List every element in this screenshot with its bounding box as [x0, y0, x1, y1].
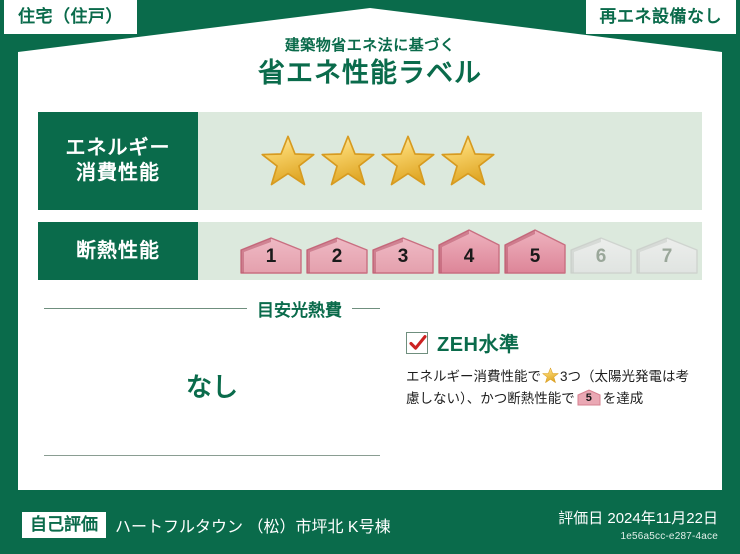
utility-cost-heading-text: 目安光熱費 — [257, 296, 342, 321]
insulation-level-6: 6 — [570, 237, 632, 275]
insulation-level-5: 5 — [504, 229, 566, 275]
lower-section: 目安光熱費 なし ZEH水準 エネルギー消費性能で3つ（太陽光発電は考慮しな — [38, 292, 702, 472]
insulation-level-2: 2 — [306, 237, 368, 275]
star-icon — [260, 133, 316, 189]
insulation-level-7: 7 — [636, 237, 698, 275]
insulation-label-text: 断熱性能 — [76, 239, 160, 264]
energy-label-line1: エネルギー — [66, 136, 171, 161]
badge-building-type: 住宅（住戸） — [4, 0, 137, 34]
footer-right: 評価日 2024年11月22日 1e56a5cc-e287-4ace — [558, 510, 718, 542]
self-evaluation-badge: 自己評価 — [22, 512, 106, 538]
title-block: 建築物省エネ法に基づく 省エネ性能ラベル — [0, 38, 740, 88]
inline-house-number: 5 — [577, 389, 601, 406]
zeh-desc-part1: エネルギー消費性能で — [406, 369, 541, 384]
energy-performance-row: エネルギー 消費性能 — [38, 112, 702, 210]
zeh-description: エネルギー消費性能で3つ（太陽光発電は考慮しない）、かつ断熱性能で5を達成 — [406, 366, 702, 410]
utility-cost-heading: 目安光熱費 — [38, 296, 386, 321]
insulation-level-scale: 1234567 — [240, 227, 698, 275]
star-rating — [260, 133, 496, 189]
zeh-desc-stars: 3つ（太陽光発電 — [560, 369, 662, 384]
label-card: エネルギー 消費性能 断熱性能 1234567 目安光熱費 — [18, 96, 722, 490]
zeh-section: ZEH水準 エネルギー消費性能で3つ（太陽光発電は考慮しない）、かつ断熱性能で5… — [386, 292, 702, 472]
energy-label-line2: 消費性能 — [76, 161, 160, 186]
insulation-level-4: 4 — [438, 229, 500, 275]
star-icon — [440, 133, 496, 189]
inline-house-badge: 5 — [577, 389, 601, 406]
zeh-checkbox[interactable] — [406, 332, 428, 354]
footer: 自己評価 ハートフルタウン （松）市坪北 K号棟 評価日 2024年11月22日… — [0, 490, 740, 554]
insulation-level-1: 1 — [240, 237, 302, 275]
energy-performance-body — [198, 112, 702, 210]
heading-rule-left — [44, 308, 247, 309]
utility-cost-section: 目安光熱費 なし — [38, 292, 386, 472]
document-id: 1e56a5cc-e287-4ace — [558, 531, 718, 542]
zeh-title: ZEH水準 — [437, 328, 520, 357]
badge-renewable-energy: 再エネ設備なし — [586, 0, 737, 34]
building-name: ハートフルタウン （松）市坪北 K号棟 — [115, 513, 391, 537]
star-icon — [320, 133, 376, 189]
insulation-performance-body: 1234567 — [198, 222, 702, 280]
star-icon — [380, 133, 436, 189]
insulation-performance-label: 断熱性能 — [38, 222, 198, 280]
inline-star-icon — [542, 367, 559, 384]
insulation-performance-row: 断熱性能 1234567 — [38, 222, 702, 280]
energy-performance-label: エネルギー 消費性能 — [38, 112, 198, 210]
energy-label-root: 住宅（住戸） 再エネ設備なし 建築物省エネ法に基づく 省エネ性能ラベル エネルギ… — [0, 0, 740, 554]
utility-cost-bottom-rule — [44, 455, 380, 456]
zeh-heading: ZEH水準 — [406, 328, 702, 357]
utility-cost-value: なし — [38, 367, 386, 404]
insulation-level-3: 3 — [372, 237, 434, 275]
title-subtitle: 建築物省エネ法に基づく — [0, 38, 740, 55]
heading-rule-right — [352, 308, 380, 309]
evaluation-date: 評価日 2024年11月22日 — [558, 510, 718, 528]
footer-left: 自己評価 ハートフルタウン （松）市坪北 K号棟 — [22, 512, 391, 538]
page-title: 省エネ性能ラベル — [0, 59, 740, 89]
zeh-desc-part3: を達成 — [603, 391, 644, 406]
